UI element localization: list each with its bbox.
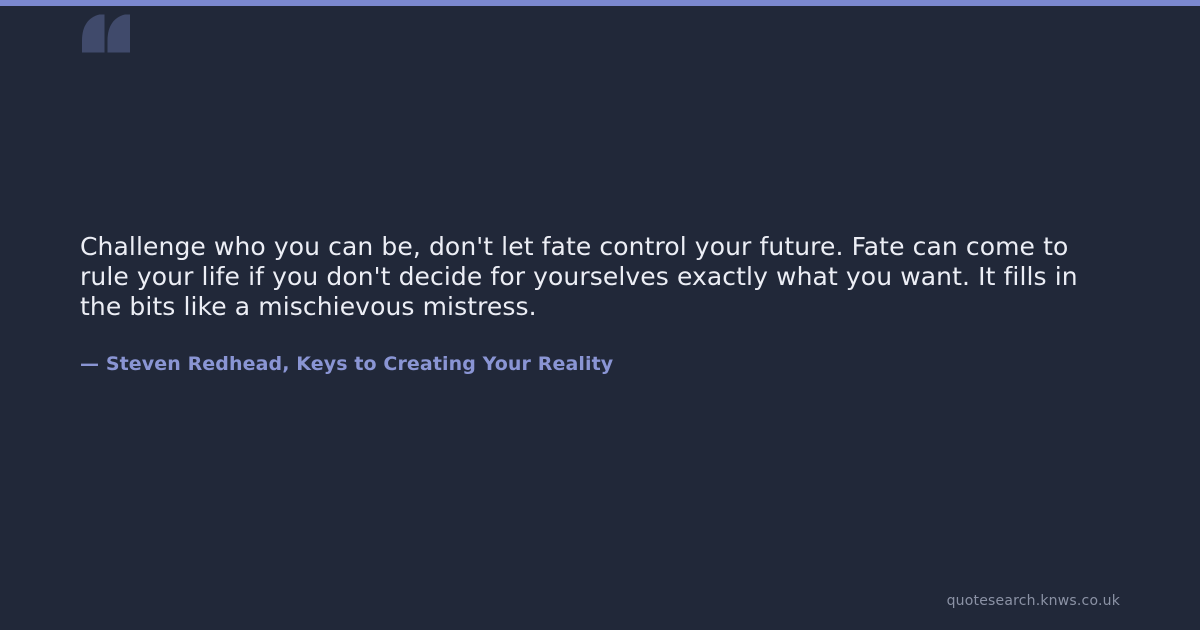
quote-content: Challenge who you can be, don't let fate… <box>80 232 1100 376</box>
top-accent-bar <box>0 0 1200 6</box>
quote-card: Challenge who you can be, don't let fate… <box>0 0 1200 630</box>
source-url: quotesearch.knws.co.uk <box>947 592 1120 610</box>
double-quote-open-icon <box>80 14 132 84</box>
quote-text: Challenge who you can be, don't let fate… <box>80 232 1092 322</box>
quote-attribution: — Steven Redhead, Keys to Creating Your … <box>80 352 1100 376</box>
